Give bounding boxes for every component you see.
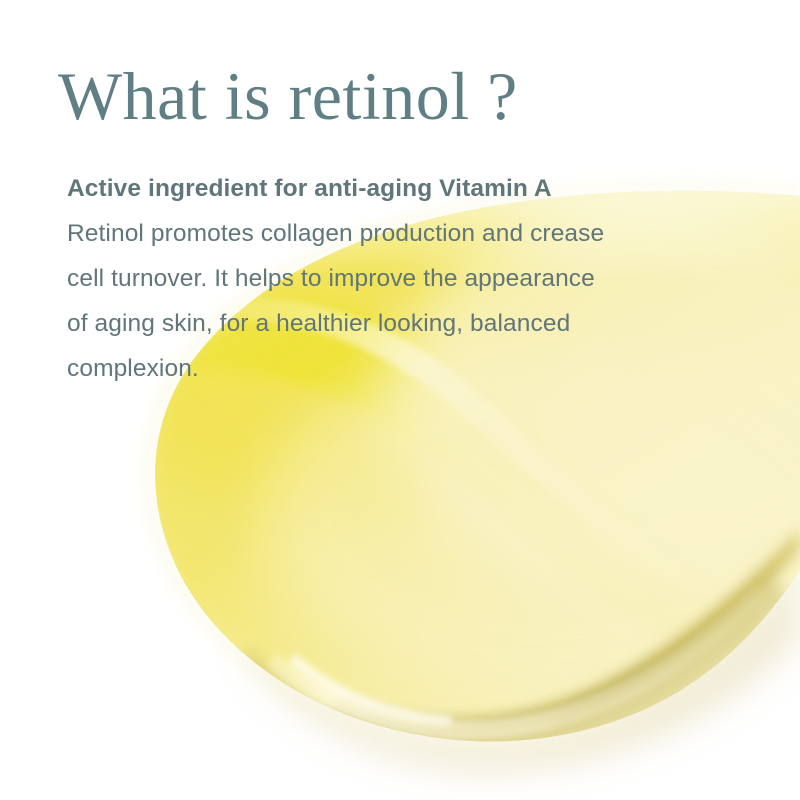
page-title: What is retinol ? — [58, 62, 518, 130]
body-line-3: cell turnover. It helps to improve the a… — [67, 256, 707, 301]
body-line-2: Retinol promotes collagen production and… — [67, 211, 707, 256]
retinol-info-card: What is retinol ? Active ingredient for … — [0, 0, 800, 800]
body-line-1: Active ingredient for anti-aging Vitamin… — [67, 166, 707, 211]
body-copy: Active ingredient for anti-aging Vitamin… — [67, 166, 707, 391]
body-line-5: complexion. — [67, 346, 707, 391]
body-line-4: of aging skin, for a healthier looking, … — [67, 301, 707, 346]
